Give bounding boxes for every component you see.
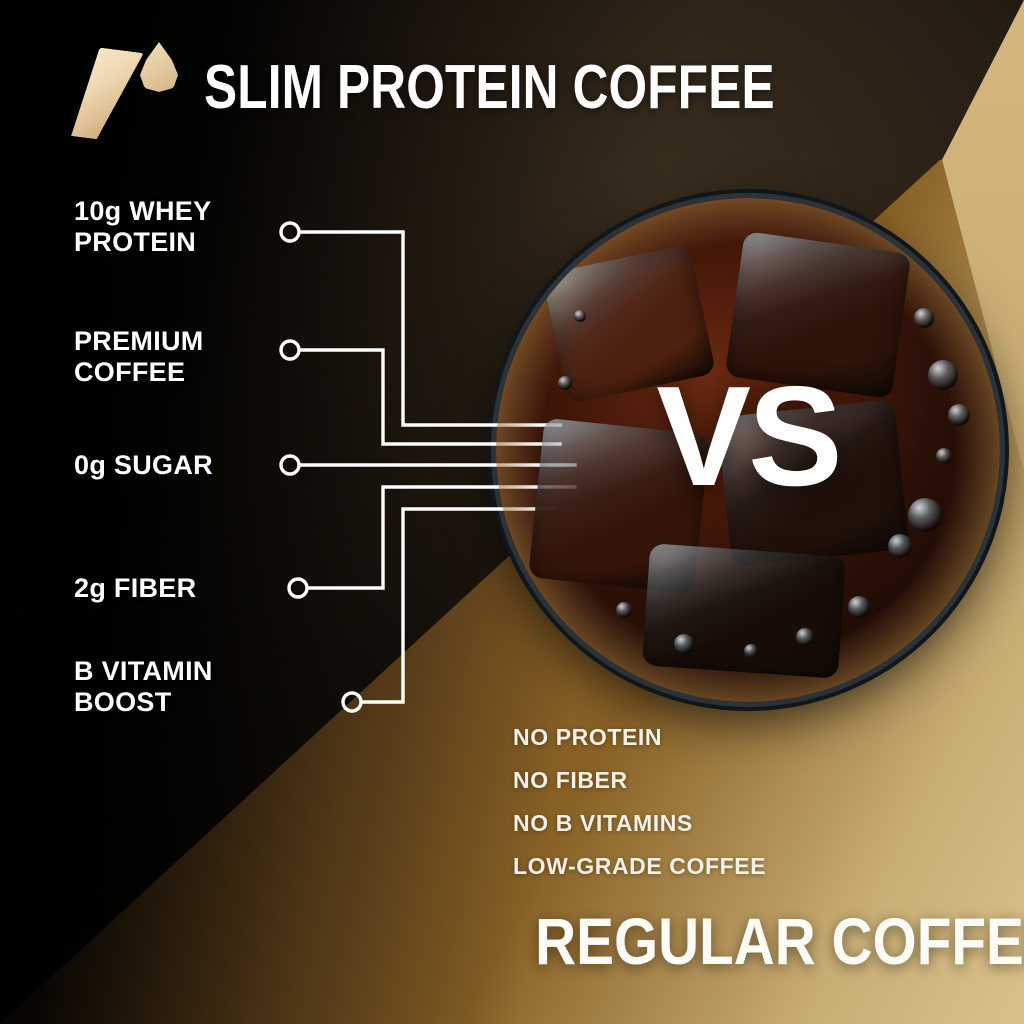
foam-bubble-6 bbox=[888, 534, 912, 558]
regular-coffee-title: REGULAR COFFEE bbox=[535, 908, 967, 974]
foam-bubble-12 bbox=[574, 310, 586, 322]
foam-bubble-8 bbox=[796, 628, 814, 646]
benefit-label-3: 0g SUGAR bbox=[74, 450, 213, 481]
con-item-3: NO B VITAMINS bbox=[513, 812, 766, 835]
benefit-label-4: 2g FIBER bbox=[74, 573, 196, 604]
brand-logo bbox=[78, 38, 182, 138]
versus-label: VS bbox=[496, 366, 1000, 508]
con-item-2: NO FIBER bbox=[513, 769, 766, 792]
foam-bubble-7 bbox=[848, 596, 870, 618]
poster-header: SLIM PROTEIN COFFEE bbox=[78, 40, 984, 136]
infographic-poster: SLIM PROTEIN COFFEE VS 10g WHEY PROTEINP… bbox=[0, 0, 1024, 1024]
foam-bubble-9 bbox=[744, 644, 758, 658]
con-item-4: LOW-GRADE COFFEE bbox=[513, 855, 766, 878]
benefit-label-1: 10g WHEY PROTEIN bbox=[74, 196, 211, 257]
foam-bubble-1 bbox=[914, 308, 934, 328]
logo-droplet-icon bbox=[140, 42, 178, 92]
iced-coffee-glass-photo: VS bbox=[496, 198, 1000, 702]
ice-cube-5 bbox=[642, 543, 846, 678]
foam-bubble-11 bbox=[616, 602, 632, 618]
benefit-label-2: PREMIUM COFFEE bbox=[74, 326, 204, 387]
foam-bubble-10 bbox=[674, 634, 694, 654]
benefit-label-5: B VITAMIN BOOST bbox=[74, 656, 213, 717]
page-title: SLIM PROTEIN COFFEE bbox=[204, 57, 775, 119]
con-item-1: NO PROTEIN bbox=[513, 726, 766, 749]
regular-coffee-cons-list: NO PROTEINNO FIBERNO B VITAMINSLOW-GRADE… bbox=[513, 726, 766, 898]
